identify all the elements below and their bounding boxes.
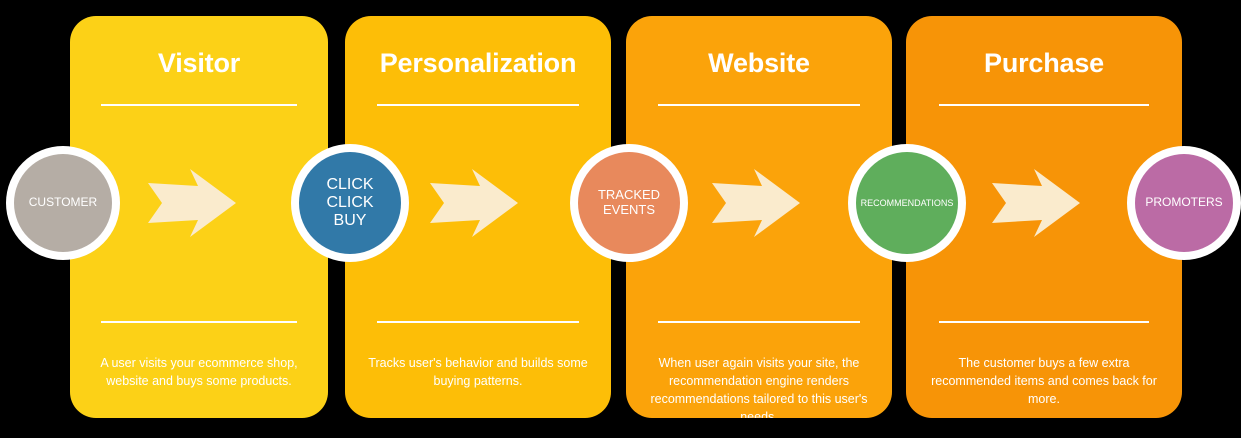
divider-top-purchase	[939, 104, 1149, 106]
divider-bottom-personalization	[377, 321, 579, 323]
divider-top-website	[658, 104, 860, 106]
stage-description-personalization: Tracks user's behavior and builds some b…	[358, 354, 597, 390]
node-tracked-events-disc: TRACKED EVENTS	[578, 152, 680, 254]
node-click-click-buy-disc: CLICK CLICK BUY	[299, 152, 401, 254]
stage-description-visitor: A user visits your ecommerce shop, websi…	[83, 354, 315, 390]
flow-diagram: Visitor A user visits your ecommerce sho…	[0, 0, 1241, 438]
stage-title-purchase: Purchase	[906, 50, 1182, 77]
stage-title-website: Website	[626, 50, 892, 77]
divider-top-visitor	[101, 104, 297, 106]
node-click-click-buy-label: CLICK CLICK BUY	[326, 176, 373, 231]
node-recommendations[interactable]: RECOMMENDATIONS	[848, 144, 966, 262]
node-promoters[interactable]: PROMOTERS	[1127, 146, 1241, 260]
stage-title-visitor: Visitor	[70, 50, 328, 77]
arrow-recommendations-to-promoters	[990, 167, 1082, 239]
stage-description-purchase: The customer buys a few extra recommende…	[920, 354, 1168, 408]
node-customer-label: CUSTOMER	[29, 196, 97, 210]
stage-title-personalization: Personalization	[345, 50, 611, 77]
node-promoters-disc: PROMOTERS	[1135, 154, 1233, 252]
divider-top-personalization	[377, 104, 579, 106]
arrow-customer-to-click	[146, 167, 238, 239]
node-recommendations-disc: RECOMMENDATIONS	[856, 152, 958, 254]
arrow-click-to-tracked	[428, 167, 520, 239]
arrow-tracked-to-recommendations	[710, 167, 802, 239]
node-click-click-buy[interactable]: CLICK CLICK BUY	[291, 144, 409, 262]
divider-bottom-purchase	[939, 321, 1149, 323]
divider-bottom-visitor	[101, 321, 297, 323]
stage-description-website: When user again visits your site, the re…	[639, 354, 878, 418]
node-promoters-label: PROMOTERS	[1145, 196, 1222, 210]
node-customer[interactable]: CUSTOMER	[6, 146, 120, 260]
node-customer-disc: CUSTOMER	[14, 154, 112, 252]
node-tracked-events-label: TRACKED EVENTS	[598, 188, 660, 218]
node-recommendations-label: RECOMMENDATIONS	[861, 198, 954, 208]
divider-bottom-website	[658, 321, 860, 323]
node-tracked-events[interactable]: TRACKED EVENTS	[570, 144, 688, 262]
